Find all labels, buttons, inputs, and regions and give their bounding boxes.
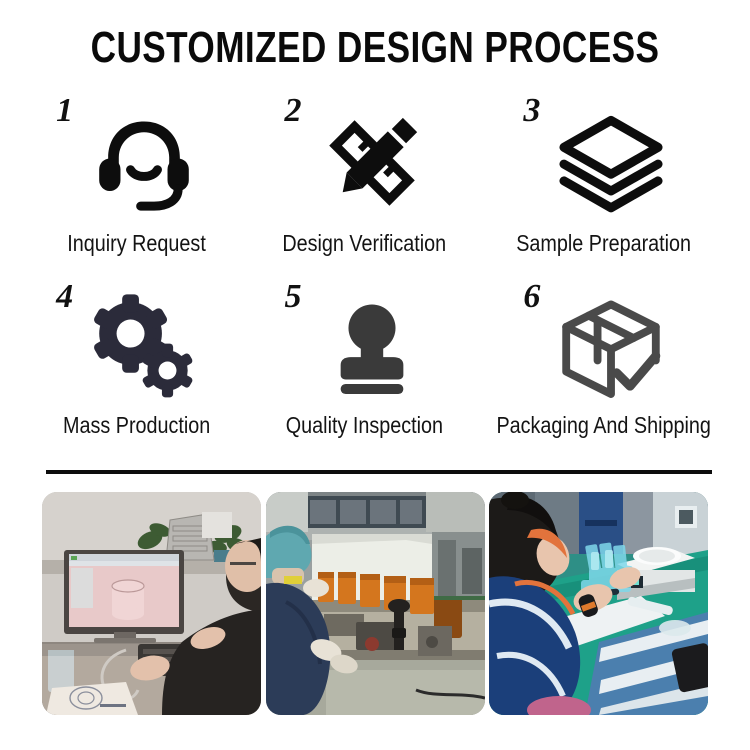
section-divider — [46, 470, 712, 474]
page-title: CUSTOMIZED DESIGN PROCESS — [75, 22, 675, 74]
process-steps-grid: 1 Inquiry Request 2 — [22, 92, 728, 464]
process-step-6: 6 Packaging And Shipping — [479, 278, 728, 464]
photo-cad-design-workstation[interactable] — [42, 492, 261, 715]
process-step-2: 2 Design Verification — [250, 92, 478, 278]
photo-gallery — [42, 492, 708, 715]
step-2-label: Design Verification — [283, 230, 447, 256]
rubber-stamp-icon — [316, 291, 428, 403]
step-6-label: Packaging And Shipping — [496, 412, 710, 438]
step-4-number: 4 — [56, 280, 73, 314]
step-1-number: 1 — [56, 94, 73, 128]
photo-quality-inspection-bench[interactable] — [489, 492, 708, 715]
step-3-label: Sample Preparation — [516, 230, 691, 256]
step-1-icon-area: 1 — [48, 92, 224, 228]
step-5-icon-area: 5 — [276, 278, 452, 410]
process-step-4: 4 — [22, 278, 250, 464]
gears-icon — [88, 291, 200, 403]
step-5-label: Quality Inspection — [286, 412, 443, 438]
photo-1-image — [42, 492, 261, 715]
process-step-1: 1 Inquiry Request — [22, 92, 250, 278]
ruler-pencil-icon — [316, 107, 428, 219]
step-4-icon-area: 4 — [48, 278, 224, 410]
box-check-icon — [555, 291, 667, 403]
step-5-number: 5 — [284, 280, 301, 314]
headset-support-icon — [88, 107, 200, 219]
step-6-icon-area: 6 — [515, 278, 691, 410]
process-step-5: 5 Quality Inspection — [250, 278, 478, 464]
step-2-icon-area: 2 — [276, 92, 452, 228]
photo-3-image — [489, 492, 708, 715]
step-2-number: 2 — [284, 94, 301, 128]
step-3-icon-area: 3 — [515, 92, 691, 228]
photo-production-line-amber-jars[interactable] — [266, 492, 485, 715]
step-1-label: Inquiry Request — [67, 230, 206, 256]
step-6-number: 6 — [523, 280, 540, 314]
process-step-3: 3 Sample Preparation — [479, 92, 728, 278]
step-4-label: Mass Production — [62, 412, 209, 438]
photo-2-image — [266, 492, 485, 715]
step-3-number: 3 — [523, 94, 540, 128]
stacked-layers-icon — [555, 107, 667, 219]
